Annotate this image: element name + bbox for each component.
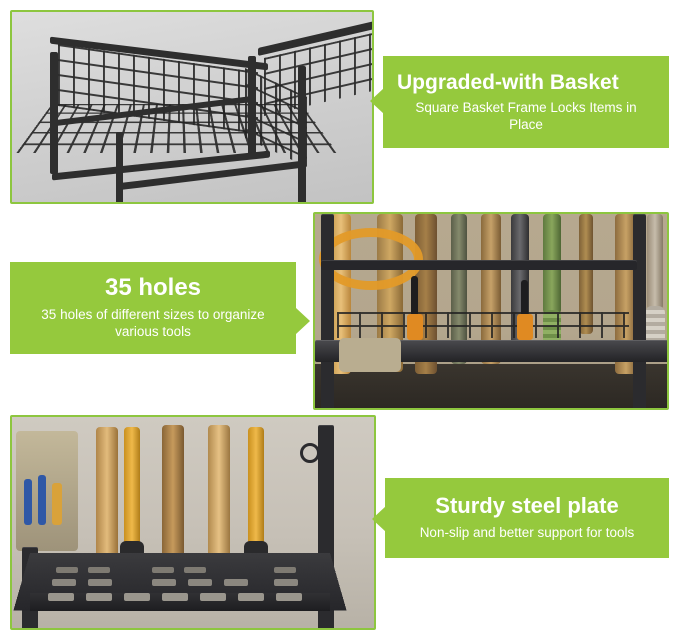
frame-rail-corner-left xyxy=(50,52,58,174)
bag-tool-yellow xyxy=(52,483,62,525)
plate-handle-yellow-1 xyxy=(124,427,140,545)
plate-handle-wood-2 xyxy=(162,425,184,561)
plate-slot xyxy=(56,567,78,573)
plate-slot xyxy=(48,593,74,601)
callout-plate-pointer xyxy=(372,506,386,532)
plate-slot xyxy=(274,579,298,586)
callout-basket-title: Upgraded-with Basket xyxy=(397,71,655,94)
rack-mesh-divider xyxy=(337,312,629,338)
infographic-page: Upgraded-with Basket Square Basket Frame… xyxy=(0,0,679,640)
callout-35-holes: 35 holes 35 holes of different sizes to … xyxy=(10,262,296,354)
plate-slot xyxy=(274,567,296,573)
plate-slot xyxy=(188,579,212,586)
product-photo-tools-in-rack xyxy=(313,212,669,410)
plate-slot xyxy=(124,593,150,601)
callout-holes-title: 35 holes xyxy=(24,275,282,301)
coiled-hose xyxy=(319,228,423,290)
plate-slot xyxy=(88,579,112,586)
hand-tool-1-grip xyxy=(407,314,423,340)
callout-plate-subtitle: Non-slip and better support for tools xyxy=(399,525,655,542)
rack-shelf-upper xyxy=(321,260,637,270)
frame-post-left xyxy=(116,132,123,204)
tool-handle-grey-1 xyxy=(647,214,663,310)
product-photo-wire-basket xyxy=(10,10,374,204)
rack-post-right xyxy=(633,214,646,410)
callout-plate-title: Sturdy steel plate xyxy=(399,494,655,518)
frame-post-right xyxy=(298,66,306,204)
callout-basket-subtitle: Square Basket Frame Locks Items in Place xyxy=(397,100,655,134)
plate-handle-yellow-2 xyxy=(248,427,264,545)
canvas-tool-bag xyxy=(339,338,401,372)
hand-tool-2-grip xyxy=(517,314,533,340)
plate-slot xyxy=(152,579,176,586)
plate-slot xyxy=(52,579,76,586)
plate-slot xyxy=(238,593,264,601)
plate-slot xyxy=(200,593,226,601)
callout-basket-pointer xyxy=(370,88,384,114)
rack-post-left xyxy=(321,214,334,410)
callout-holes-subtitle: 35 holes of different sizes to organize … xyxy=(24,307,282,341)
rack-hook-icon xyxy=(300,443,320,463)
bag-tool-blue-2 xyxy=(38,475,46,525)
plate-slot xyxy=(224,579,248,586)
plate-slot xyxy=(152,567,174,573)
callout-upgraded-basket: Upgraded-with Basket Square Basket Frame… xyxy=(383,56,669,148)
product-photo-steel-plate xyxy=(10,415,376,630)
callout-sturdy-steel-plate: Sturdy steel plate Non-slip and better s… xyxy=(385,478,669,558)
callout-holes-pointer xyxy=(296,308,310,334)
plate-slot xyxy=(86,593,112,601)
plate-slot xyxy=(276,593,302,601)
frame-rail-corner-right xyxy=(248,56,256,156)
plate-handle-wood-1 xyxy=(96,427,118,559)
plate-slot xyxy=(184,567,206,573)
plate-handle-wood-3 xyxy=(208,425,230,561)
bag-tool-blue-1 xyxy=(24,479,32,525)
plate-slot xyxy=(88,567,110,573)
plate-slot xyxy=(162,593,188,601)
